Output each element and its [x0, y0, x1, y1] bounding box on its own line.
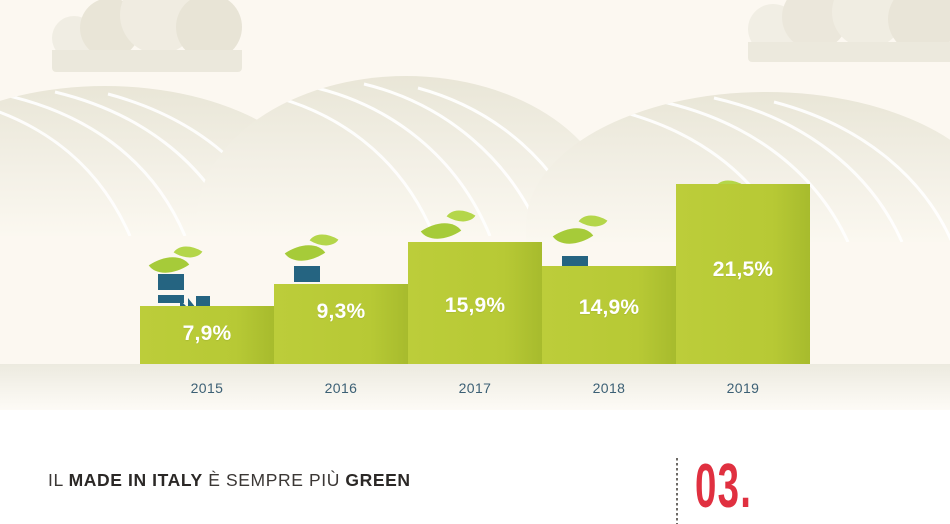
bar-chart: 7,9% 9,3% [0, 0, 950, 410]
bar-value-2017: 15,9% [408, 294, 542, 318]
x-axis-label-2015: 2015 [140, 380, 274, 396]
dotted-divider [676, 458, 678, 524]
bar-2015[interactable]: 7,9% [140, 306, 274, 364]
caption-bold-1: MADE IN ITALY [69, 470, 203, 490]
caption-bold-2: GREEN [345, 470, 410, 490]
bar-2019[interactable]: 21,5% [676, 184, 810, 364]
slide-number-group: 03. [676, 458, 787, 524]
x-axis-label-2018: 2018 [542, 380, 676, 396]
bar-value-2015: 7,9% [140, 322, 274, 346]
caption-text-2: È SEMPRE PIÙ [203, 470, 346, 490]
bar-2018[interactable]: 14,9% [542, 266, 676, 364]
x-axis-band: 2015 2016 2017 2018 2019 [0, 364, 950, 410]
bar-value-2016: 9,3% [274, 300, 408, 324]
slide-number: 03. [695, 458, 752, 516]
bar-2016[interactable]: 9,3% [274, 284, 408, 364]
x-axis-label-2019: 2019 [676, 380, 810, 396]
x-axis-label-2017: 2017 [408, 380, 542, 396]
leaf-icon [556, 211, 620, 253]
slide-caption: IL MADE IN ITALY È SEMPRE PIÙ GREEN [48, 470, 411, 491]
leaf-icon [288, 228, 348, 268]
x-axis-label-2016: 2016 [274, 380, 408, 396]
bar-2017[interactable]: 15,9% [408, 242, 542, 364]
bar-value-2018: 14,9% [542, 296, 676, 320]
infographic-slide: 7,9% 9,3% [0, 0, 950, 524]
bar-value-2019: 21,5% [676, 258, 810, 282]
caption-text-1: IL [48, 470, 69, 490]
slide-footer: IL MADE IN ITALY È SEMPRE PIÙ GREEN 03. [0, 410, 950, 524]
